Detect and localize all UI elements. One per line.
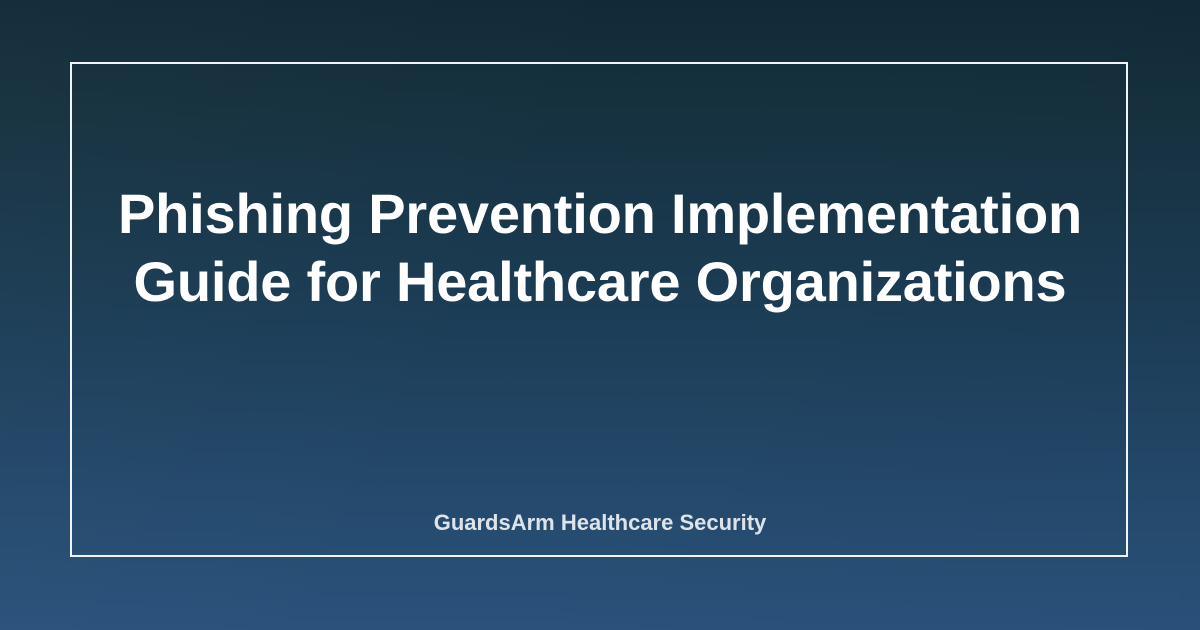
title-slide: Phishing Prevention Implementation Guide… (0, 0, 1200, 630)
slide-title: Phishing Prevention Implementation Guide… (70, 180, 1130, 316)
slide-content: Phishing Prevention Implementation Guide… (70, 62, 1130, 559)
slide-subtitle: GuardsArm Healthcare Security (70, 509, 1130, 559)
